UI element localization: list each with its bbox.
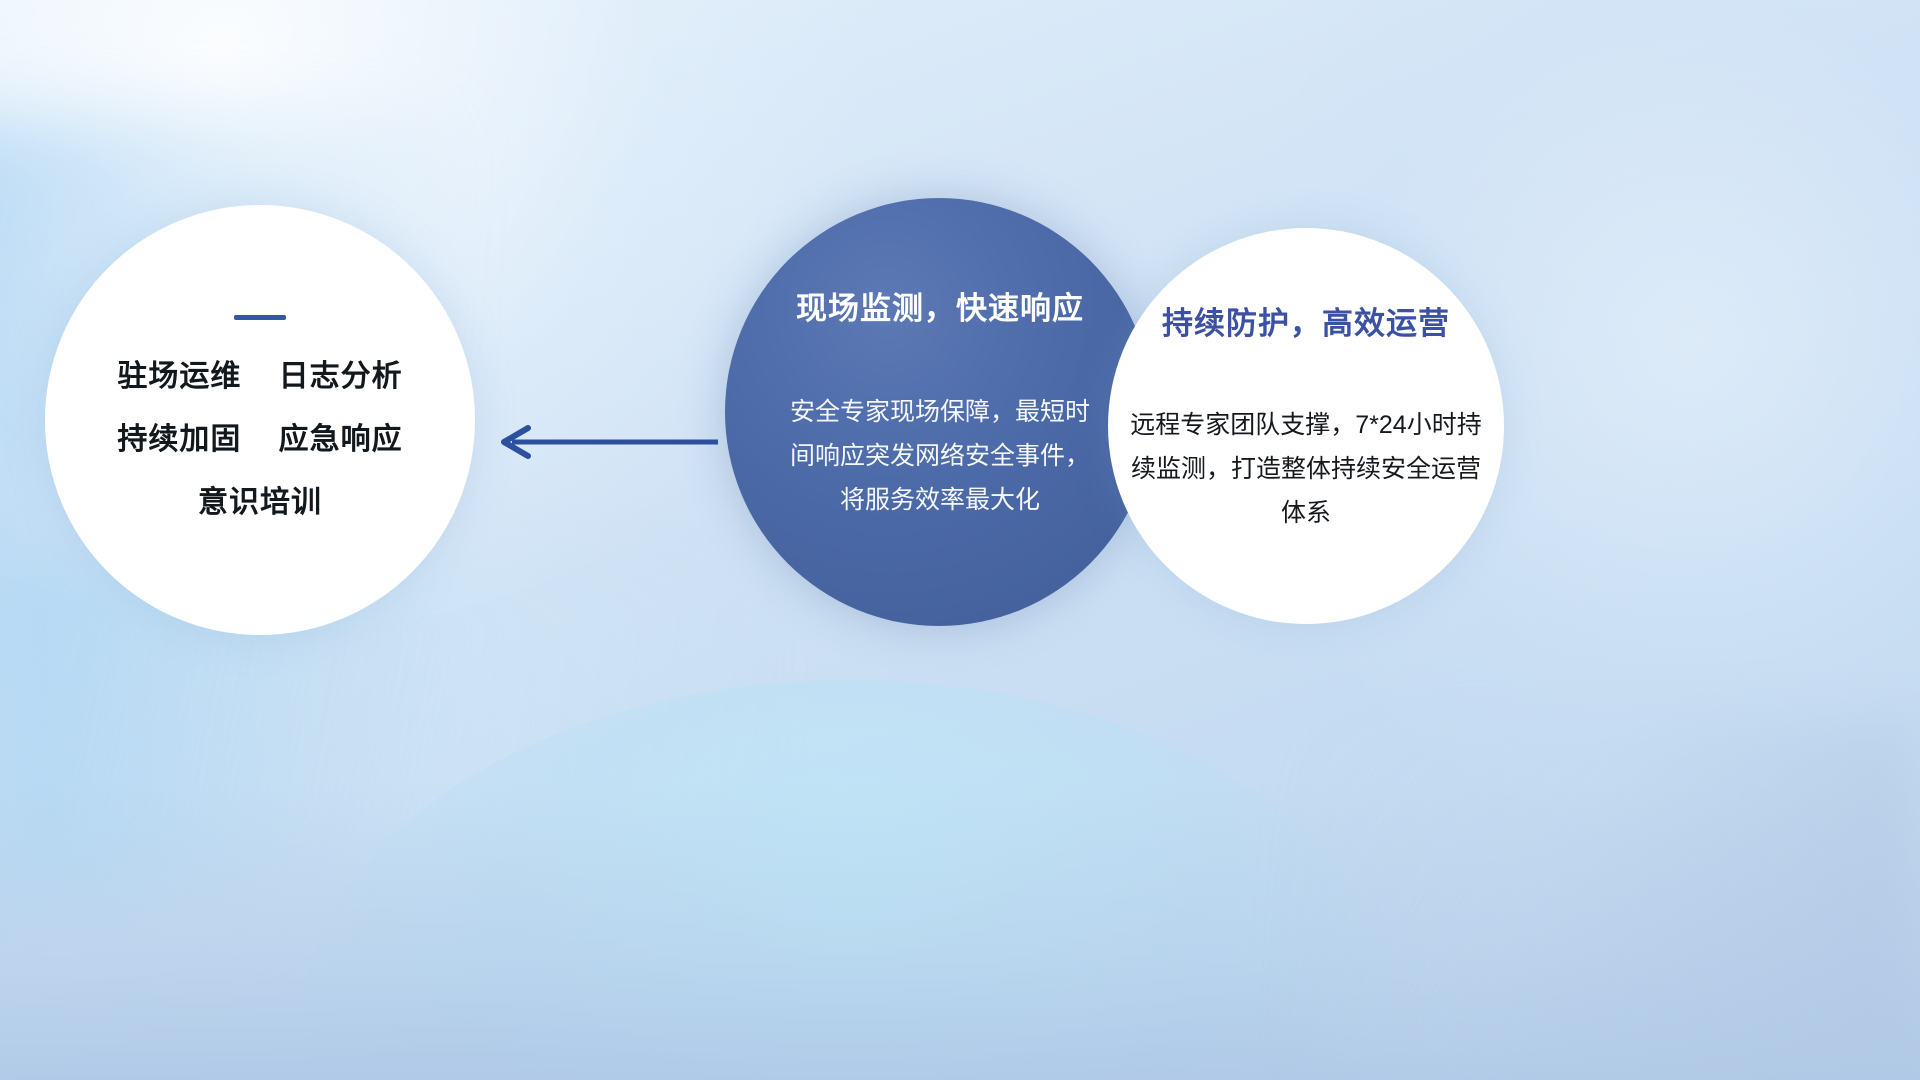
right-circle-title: 持续防护，高效运营: [1162, 298, 1450, 343]
right-circle-content: 持续防护，高效运营 远程专家团队支撑，7*24小时持续监测，打造整体持续安全运营…: [1118, 276, 1494, 535]
middle-circle-body: 安全专家现场保障，最短时间响应突发网络安全事件，将服务效率最大化: [790, 390, 1090, 522]
middle-circle-content: 现场监测，快速响应 安全专家现场保障，最短时间响应突发网络安全事件，将服务效率最…: [745, 255, 1135, 585]
left-circle-line-3: 意识培训: [198, 488, 322, 518]
blue-dash-icon: [234, 315, 286, 320]
diagram-stage: 驻场运维 日志分析 持续加固 应急响应 意识培训 现场监测，快速响应 安全专家现…: [0, 0, 1920, 1080]
left-capability-circle[interactable]: 驻场运维 日志分析 持续加固 应急响应 意识培训: [45, 205, 475, 635]
left-circle-line-1: 驻场运维 日志分析: [117, 362, 402, 392]
middle-circle-title: 现场监测，快速响应: [796, 283, 1084, 328]
right-circle-body: 远程专家团队支撑，7*24小时持续监测，打造整体持续安全运营体系: [1126, 403, 1486, 535]
left-circle-line-2: 持续加固 应急响应: [117, 425, 402, 455]
arrow-left-icon: [490, 424, 720, 460]
